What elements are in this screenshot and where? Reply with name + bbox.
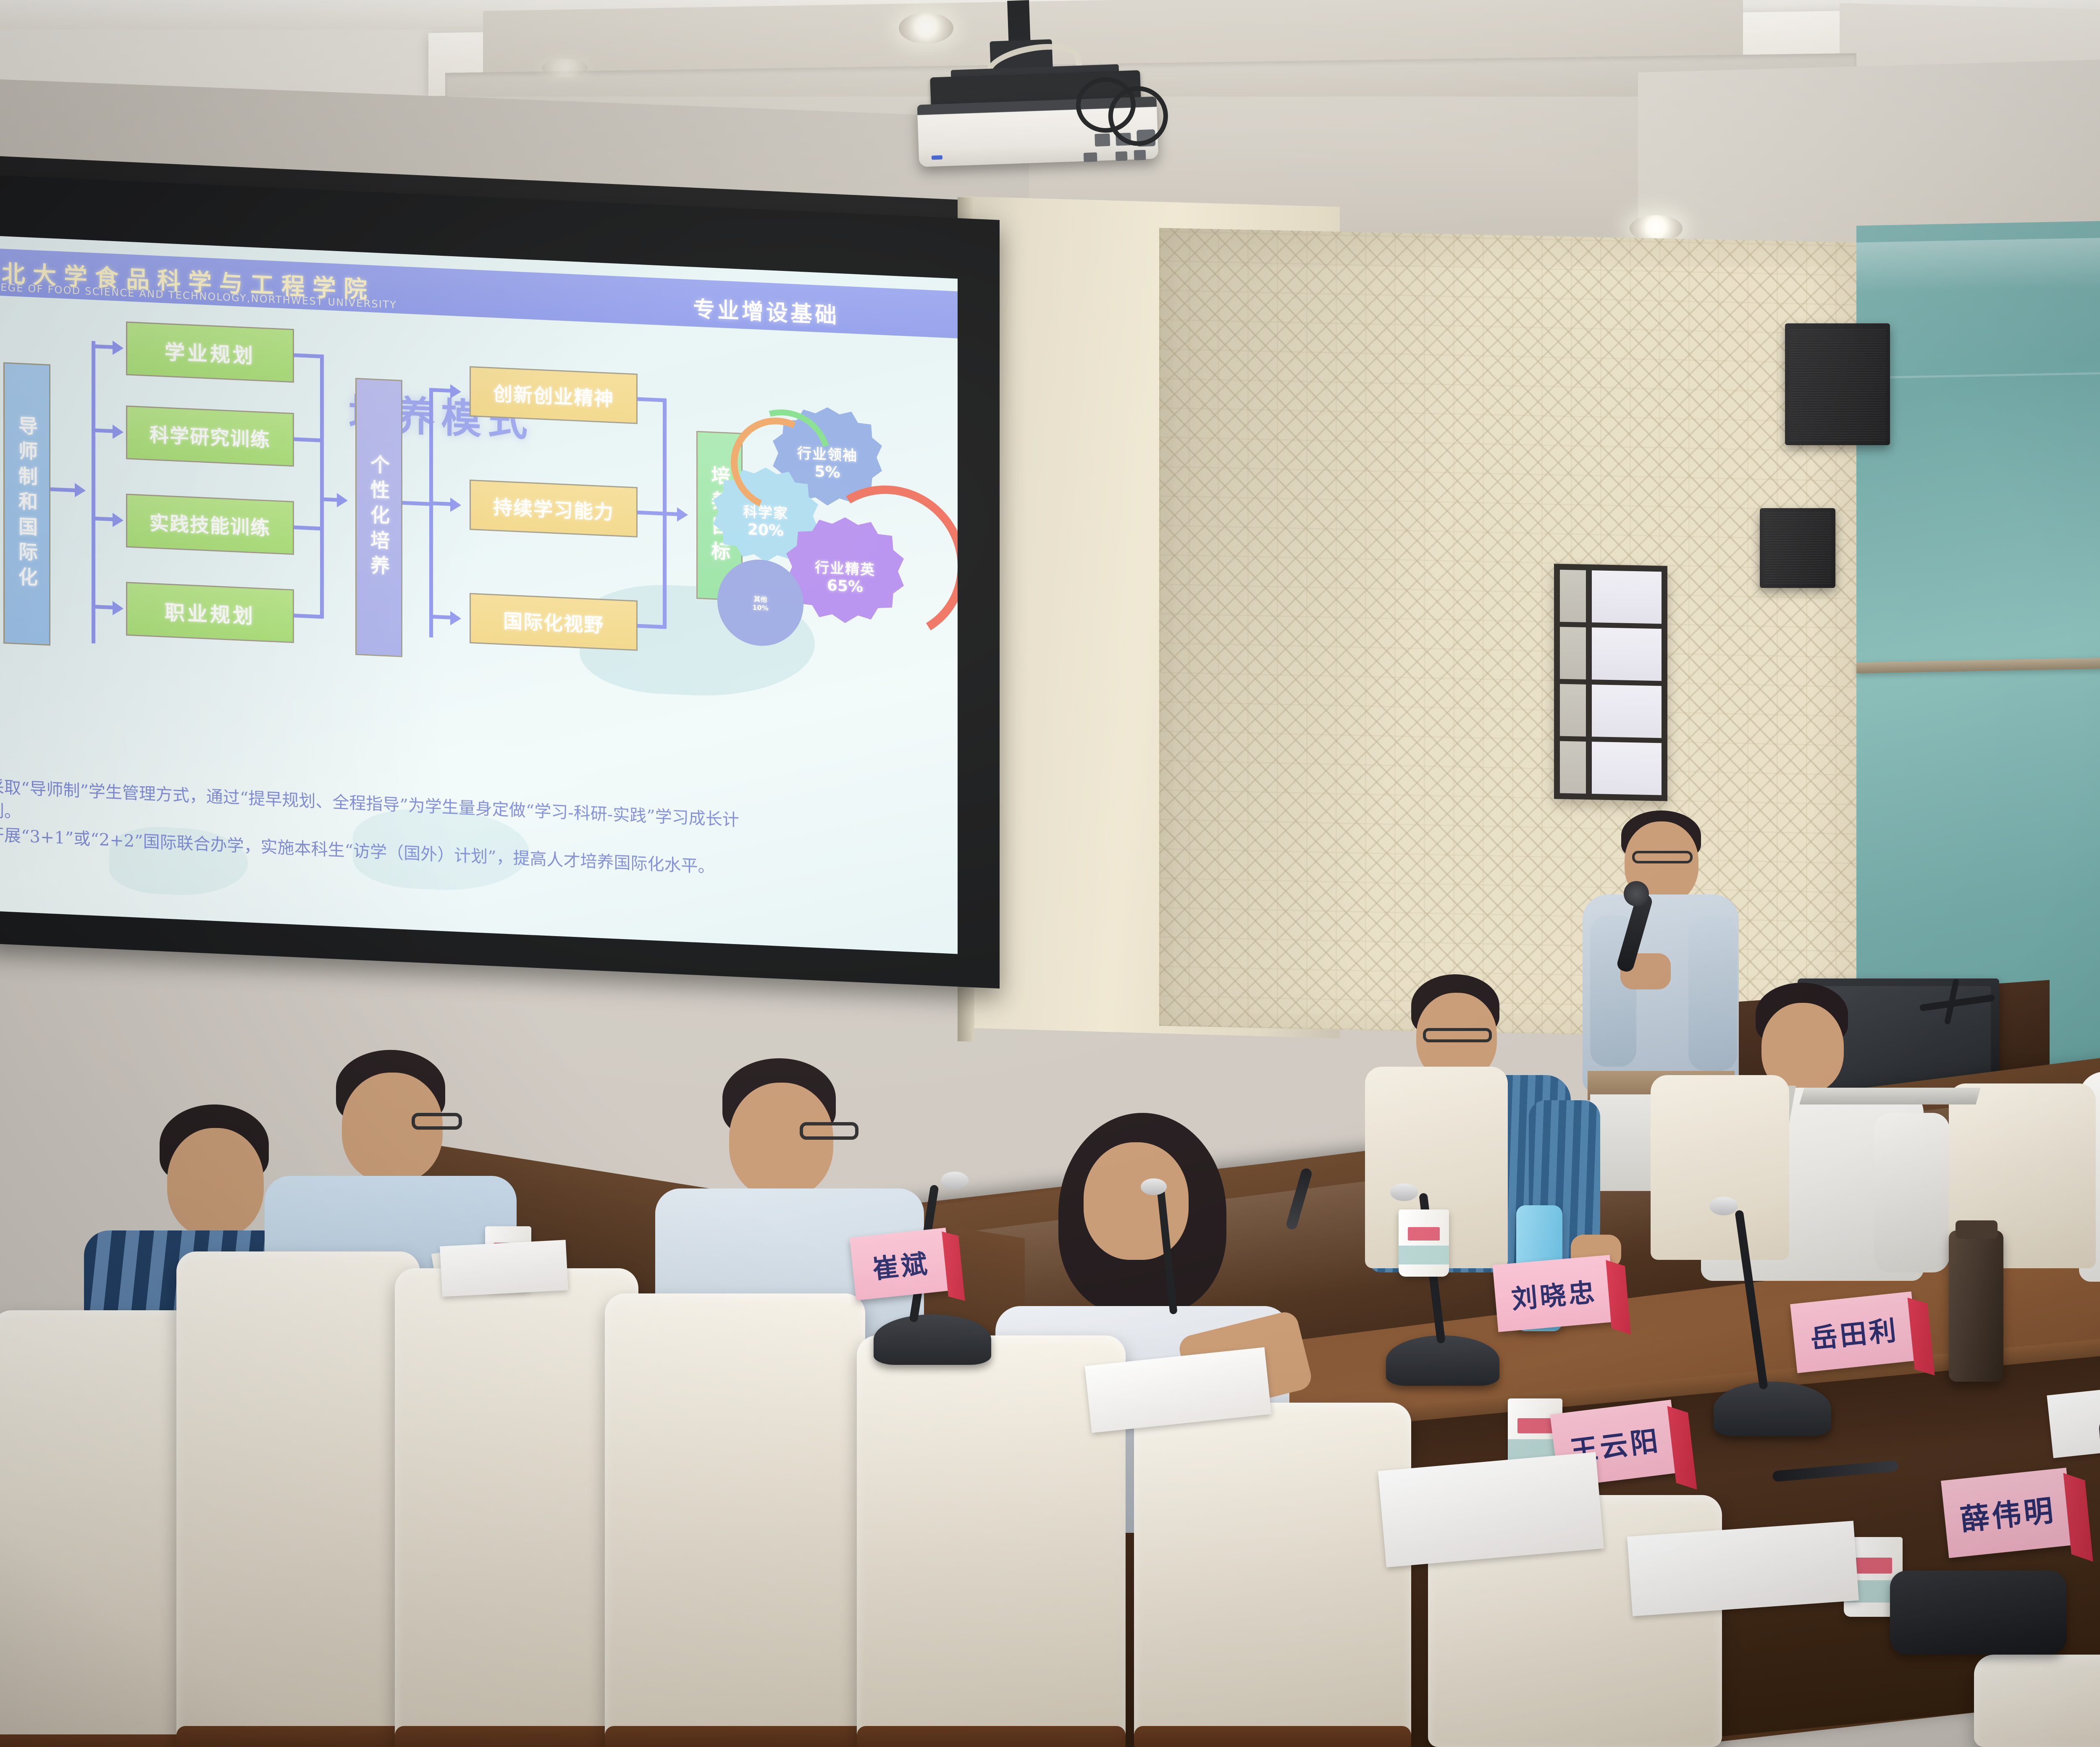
flow-arrow-icon [75, 483, 86, 498]
flow-arrow-icon [113, 513, 123, 527]
microphone-head-icon [1141, 1178, 1167, 1195]
flow-connector [638, 624, 666, 629]
eyeglasses-icon [800, 1122, 858, 1140]
cup-logo-icon [1517, 1418, 1552, 1433]
microphone-base[interactable] [1714, 1382, 1831, 1436]
thermos-flask[interactable] [1949, 1230, 2003, 1382]
sconce-pane [1560, 684, 1586, 737]
flow-arrow-icon [677, 507, 688, 522]
head [167, 1128, 264, 1237]
flow-connector [294, 353, 323, 358]
slide-notes: 采取“导师制”学生管理方式，通过“提早规划、全程指导”为学生量身定做“学习-科研… [0, 775, 903, 887]
wall-speaker [1785, 323, 1890, 445]
microphone-head-icon [1709, 1197, 1738, 1215]
document-sheet[interactable] [440, 1240, 568, 1297]
chair [395, 1268, 638, 1747]
flow-connector-bus [429, 390, 433, 637]
slide-section-tag: 专业增设基础 [693, 291, 839, 329]
flow-stage1: 导师制和国际化 [3, 362, 50, 645]
sconce-pane [1560, 627, 1586, 679]
flow-child-4: 职业规划 [126, 582, 294, 643]
cup-logo-icon [1408, 1227, 1440, 1241]
speaker-grille-icon [1789, 328, 1886, 441]
flow-connector [294, 614, 323, 619]
sconce-pane [1592, 685, 1662, 738]
flow-connector [402, 501, 432, 506]
sconce-pane [1592, 742, 1662, 795]
thermos-lid [1956, 1220, 1998, 1239]
wall-speaker [1760, 508, 1835, 588]
microphone-base[interactable] [1386, 1335, 1499, 1386]
flow-arrow-icon [113, 341, 123, 355]
chair-arm [395, 1726, 638, 1747]
chair-arm [857, 1726, 1126, 1747]
projector-port [1084, 152, 1097, 162]
flow-stage2: 个性化培养 [355, 378, 402, 657]
flow-child-1: 学业规划 [126, 321, 294, 383]
head [1084, 1142, 1189, 1260]
eyeglasses-icon [1632, 851, 1693, 863]
microphone-head-icon [941, 1172, 969, 1189]
sconce-right-column [1592, 570, 1662, 795]
flow-connector [50, 487, 78, 492]
ceiling-projector [887, 0, 1179, 173]
paper-cup[interactable] [1399, 1209, 1449, 1277]
chair [605, 1293, 865, 1747]
chair-arm [176, 1726, 420, 1747]
projection-screen[interactable]: 西北大学食品科学与工程学院 COLLEGE OF FOOD SCIENCE AN… [0, 235, 958, 954]
projector-status-led [932, 155, 942, 160]
chair [1974, 1655, 2100, 1747]
flow-connector-bus [320, 354, 324, 618]
microphone-head-icon [1390, 1183, 1418, 1201]
flow-connector-bus [92, 341, 95, 643]
namecard-xueweiming: 薛伟明 [1941, 1468, 2074, 1558]
namecard-liuxiaozhong: 刘晓忠 [1493, 1255, 1616, 1332]
speaker-grille-icon [1764, 512, 1831, 584]
namecard-cuibin: 崔斌 [850, 1228, 952, 1300]
projector-cables [1071, 75, 1170, 146]
flow-arrow-icon [113, 601, 123, 616]
flow-child-7: 国际化视野 [470, 593, 638, 651]
flow-arrow-icon [450, 611, 461, 626]
chair [1134, 1403, 1411, 1747]
cup-band [1399, 1246, 1449, 1264]
conference-room-photo: 西北大学食品科学与工程学院 COLLEGE OF FOOD SCIENCE AN… [0, 0, 2100, 1747]
wall-sconce [1554, 564, 1667, 801]
flow-connector [638, 397, 666, 402]
flow-arrow-icon [450, 498, 461, 512]
document-sheet[interactable] [1627, 1521, 1859, 1616]
arm [1874, 1113, 1950, 1272]
chart-slice-value: 20% [748, 521, 784, 540]
sconce-left-column [1560, 570, 1586, 794]
flow-child-2: 科学研究训练 [126, 405, 294, 467]
flow-arrow-icon [450, 384, 461, 399]
namecard-yuetianli: 岳田利 [1790, 1291, 1919, 1373]
flow-child-6: 持续学习能力 [470, 480, 638, 538]
sconce-pane [1592, 627, 1662, 681]
chart-slice-value: 10% [752, 603, 768, 612]
chart-slice-label: 其他 [753, 593, 767, 604]
eyeglasses-icon [412, 1113, 462, 1130]
sconce-pane [1592, 570, 1662, 624]
chair [857, 1335, 1126, 1747]
microphone-head-icon [1624, 881, 1649, 906]
projector-port [1134, 150, 1146, 160]
eyeglasses-icon [1423, 1028, 1492, 1042]
flow-arrow-icon [337, 493, 348, 508]
chair [176, 1251, 420, 1747]
chair-arm [605, 1726, 865, 1747]
sconce-pane [1560, 570, 1586, 622]
projector-port [1116, 151, 1128, 161]
downlight-icon [542, 59, 588, 77]
flow-connector [294, 437, 323, 442]
flow-child-5: 创新创业精神 [470, 366, 638, 424]
flow-arrow-icon [113, 425, 123, 439]
camera-bag [1890, 1571, 2066, 1655]
laptop-base[interactable] [1799, 1088, 1980, 1104]
microphone-base[interactable] [874, 1314, 991, 1365]
glass-seam [1856, 362, 2100, 379]
glass-wall-right [1856, 211, 2100, 1083]
chair-far [1651, 1075, 1789, 1260]
sconce-pane [1560, 741, 1586, 794]
flow-connector [638, 511, 666, 516]
slide: 西北大学食品科学与工程学院 COLLEGE OF FOOD SCIENCE AN… [0, 235, 958, 954]
head [729, 1083, 833, 1198]
flow-connector [294, 525, 323, 530]
cup-logo-icon [1854, 1558, 1892, 1574]
document-sheet[interactable] [1378, 1452, 1604, 1567]
flow-child-3: 实践技能训练 [126, 493, 294, 555]
chair-arm [1134, 1726, 1411, 1747]
